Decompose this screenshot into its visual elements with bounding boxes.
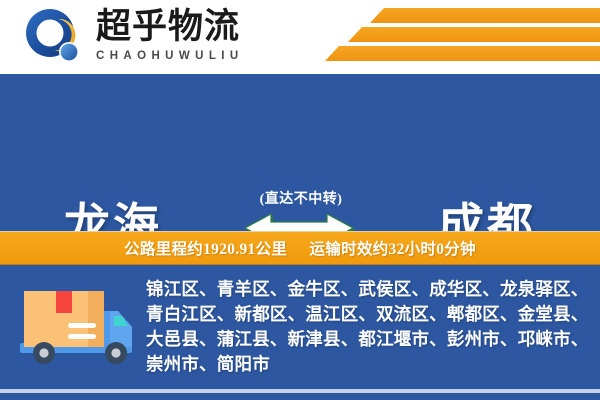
logistics-route-banner: 超乎物流 CHAOHUWULIU 龙海 (直达不中转) 【往返运输】 成都 — [0, 0, 600, 400]
circle-crescent-logo-icon — [24, 8, 86, 66]
route-note-top: (直达不中转) — [245, 191, 357, 209]
brand-name-cn: 超乎物流 — [96, 6, 276, 48]
distance-text: 公路里程约1920.91公里 — [124, 241, 287, 258]
coverage-section: 锦江区、青羊区、金牛区、武侯区、成华区、龙泉驿区、青白江区、新都区、温江区、双流… — [0, 265, 600, 400]
header-stripes-decoration — [310, 6, 600, 68]
info-bar: 公路里程约1920.91公里 运输时效约32小时0分钟 — [0, 231, 600, 265]
header-bar: 超乎物流 CHAOHUWULIU — [0, 0, 600, 74]
stripe-1 — [370, 8, 600, 23]
info-bar-text: 公路里程约1920.91公里 运输时效约32小时0分钟 — [124, 237, 476, 259]
brand-lockup: 超乎物流 CHAOHUWULIU — [96, 6, 276, 63]
route-section: 龙海 (直达不中转) 【往返运输】 成都 — [0, 74, 600, 229]
duration-text: 运输时效约32小时0分钟 — [310, 241, 476, 258]
delivery-truck-icon — [18, 285, 138, 375]
stripe-3 — [325, 46, 600, 61]
stripe-2 — [348, 27, 600, 42]
brand-name-en: CHAOHUWULIU — [96, 49, 276, 63]
footer-divider — [0, 389, 600, 393]
coverage-districts-text: 锦江区、青羊区、金牛区、武侯区、成华区、龙泉驿区、青白江区、新都区、温江区、双流… — [146, 277, 590, 377]
